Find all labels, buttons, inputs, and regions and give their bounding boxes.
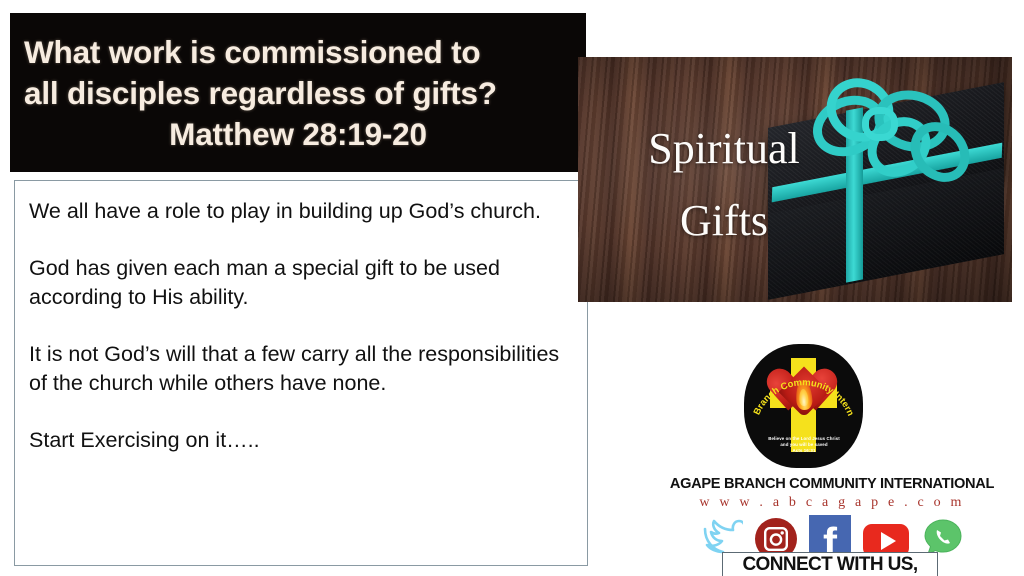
question-line-2: all disciples regardless of gifts? [24, 73, 497, 114]
body-text-box: We all have a role to play in building u… [14, 180, 588, 566]
body-paragraph-2: God has given each man a special gift to… [29, 254, 573, 312]
gift-title-word-2: Gifts [604, 185, 844, 257]
connect-line-1: CONNECT WITH US, [727, 555, 933, 575]
play-triangle-icon [881, 532, 896, 550]
logo-arc-label: Agape Branch Community International [741, 335, 857, 419]
gift-title-word-1: Spiritual [604, 113, 844, 185]
body-paragraph-3: It is not God’s will that a few carry al… [29, 340, 573, 398]
connect-with-us-box: CONNECT WITH US, FOLLOW US, LIKE, AND SH… [722, 552, 938, 576]
slide-canvas: What work is commissioned to all discipl… [0, 0, 1024, 576]
scripture-reference: Matthew 28:19-20 [169, 114, 427, 155]
svg-text:Agape Branch Community Interna: Agape Branch Community International [741, 335, 857, 419]
organization-name: AGAPE BRANCH COMMUNITY INTERNATIONAL [640, 476, 1024, 492]
church-logo: Agape Branch Community International Bel… [744, 344, 863, 475]
organization-website[interactable]: w w w . a b c a g a p e . c o m [640, 495, 1024, 511]
body-paragraph-1: We all have a role to play in building u… [29, 197, 573, 226]
logo-verse-line-3: Acts 16:31 [762, 448, 846, 454]
body-paragraph-4: Start Exercising on it….. [29, 426, 573, 455]
spiritual-gifts-image: Spiritual Gifts [578, 57, 1012, 302]
question-line-1: What work is commissioned to [24, 32, 480, 73]
church-branding-block: Agape Branch Community International Bel… [640, 330, 1024, 576]
question-banner: What work is commissioned to all discipl… [10, 13, 586, 172]
gift-image-title: Spiritual Gifts [604, 113, 844, 257]
logo-verse-text: Believe on the Lord Jesus Christ and you… [762, 436, 846, 454]
